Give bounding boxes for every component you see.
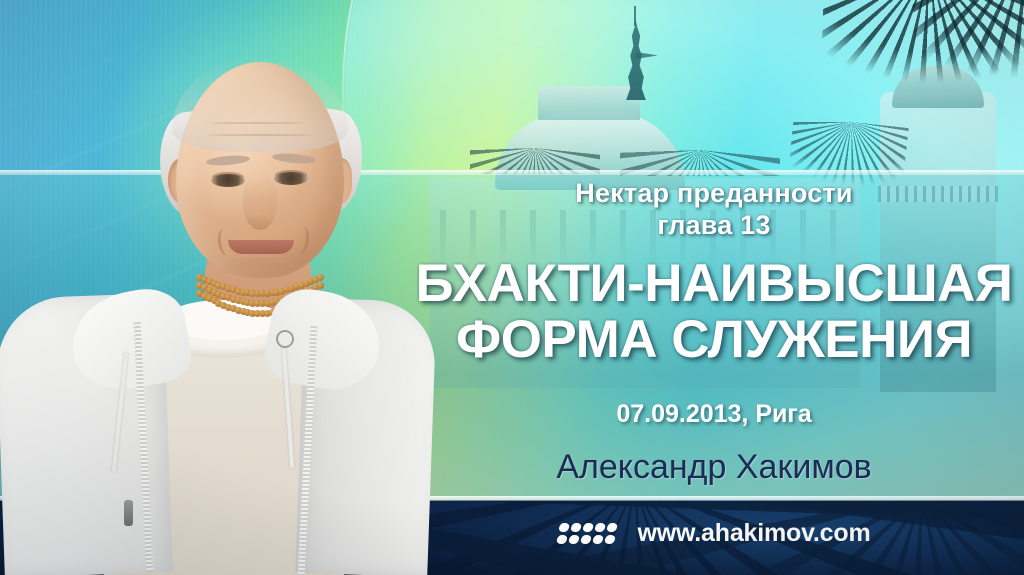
kicker-line-2: глава 13 (404, 210, 1024, 242)
portrait-forehead-line (212, 122, 304, 124)
speaker-portrait (0, 0, 430, 575)
portrait-mouth (228, 240, 294, 254)
palm-tree-right (909, 0, 1024, 123)
kicker-line-1: Нектар преданности (575, 178, 852, 208)
portrait-eye-right (274, 172, 308, 185)
portrait-hair-crown (172, 56, 348, 152)
page-title: БХАКТИ-НАИВЫСШАЯ ФОРМА СЛУЖЕНИЯ (404, 256, 1024, 368)
headline-line-1: БХАКТИ-НАИВЫСШАЯ (416, 254, 1013, 313)
website-url[interactable]: www.ahakimov.com (638, 519, 871, 548)
portrait-drawcord-tip (124, 500, 133, 526)
temple-drum (538, 86, 640, 120)
portrait-drawcord-ring (276, 330, 294, 348)
kicker: Нектар преданности глава 13 (404, 178, 1024, 242)
portrait-forehead-line (208, 134, 312, 136)
footer: www.ahakimov.com (404, 519, 1024, 548)
ahakimov-dots-logo-icon (556, 523, 618, 544)
headline-line-2: ФОРМА СЛУЖЕНИЯ (404, 312, 1024, 368)
portrait-eye-left (211, 174, 245, 187)
speaker-name: Александр Хакимов (404, 448, 1024, 487)
portrait-nose (243, 176, 277, 230)
date-and-place: 07.09.2013, Рига (404, 400, 1024, 429)
lecture-banner: Нектар преданности глава 13 БХАКТИ-НАИВЫ… (0, 0, 1024, 575)
temple-needle (634, 6, 636, 26)
title-block: Нектар преданности глава 13 БХАКТИ-НАИВЫ… (404, 178, 1024, 368)
